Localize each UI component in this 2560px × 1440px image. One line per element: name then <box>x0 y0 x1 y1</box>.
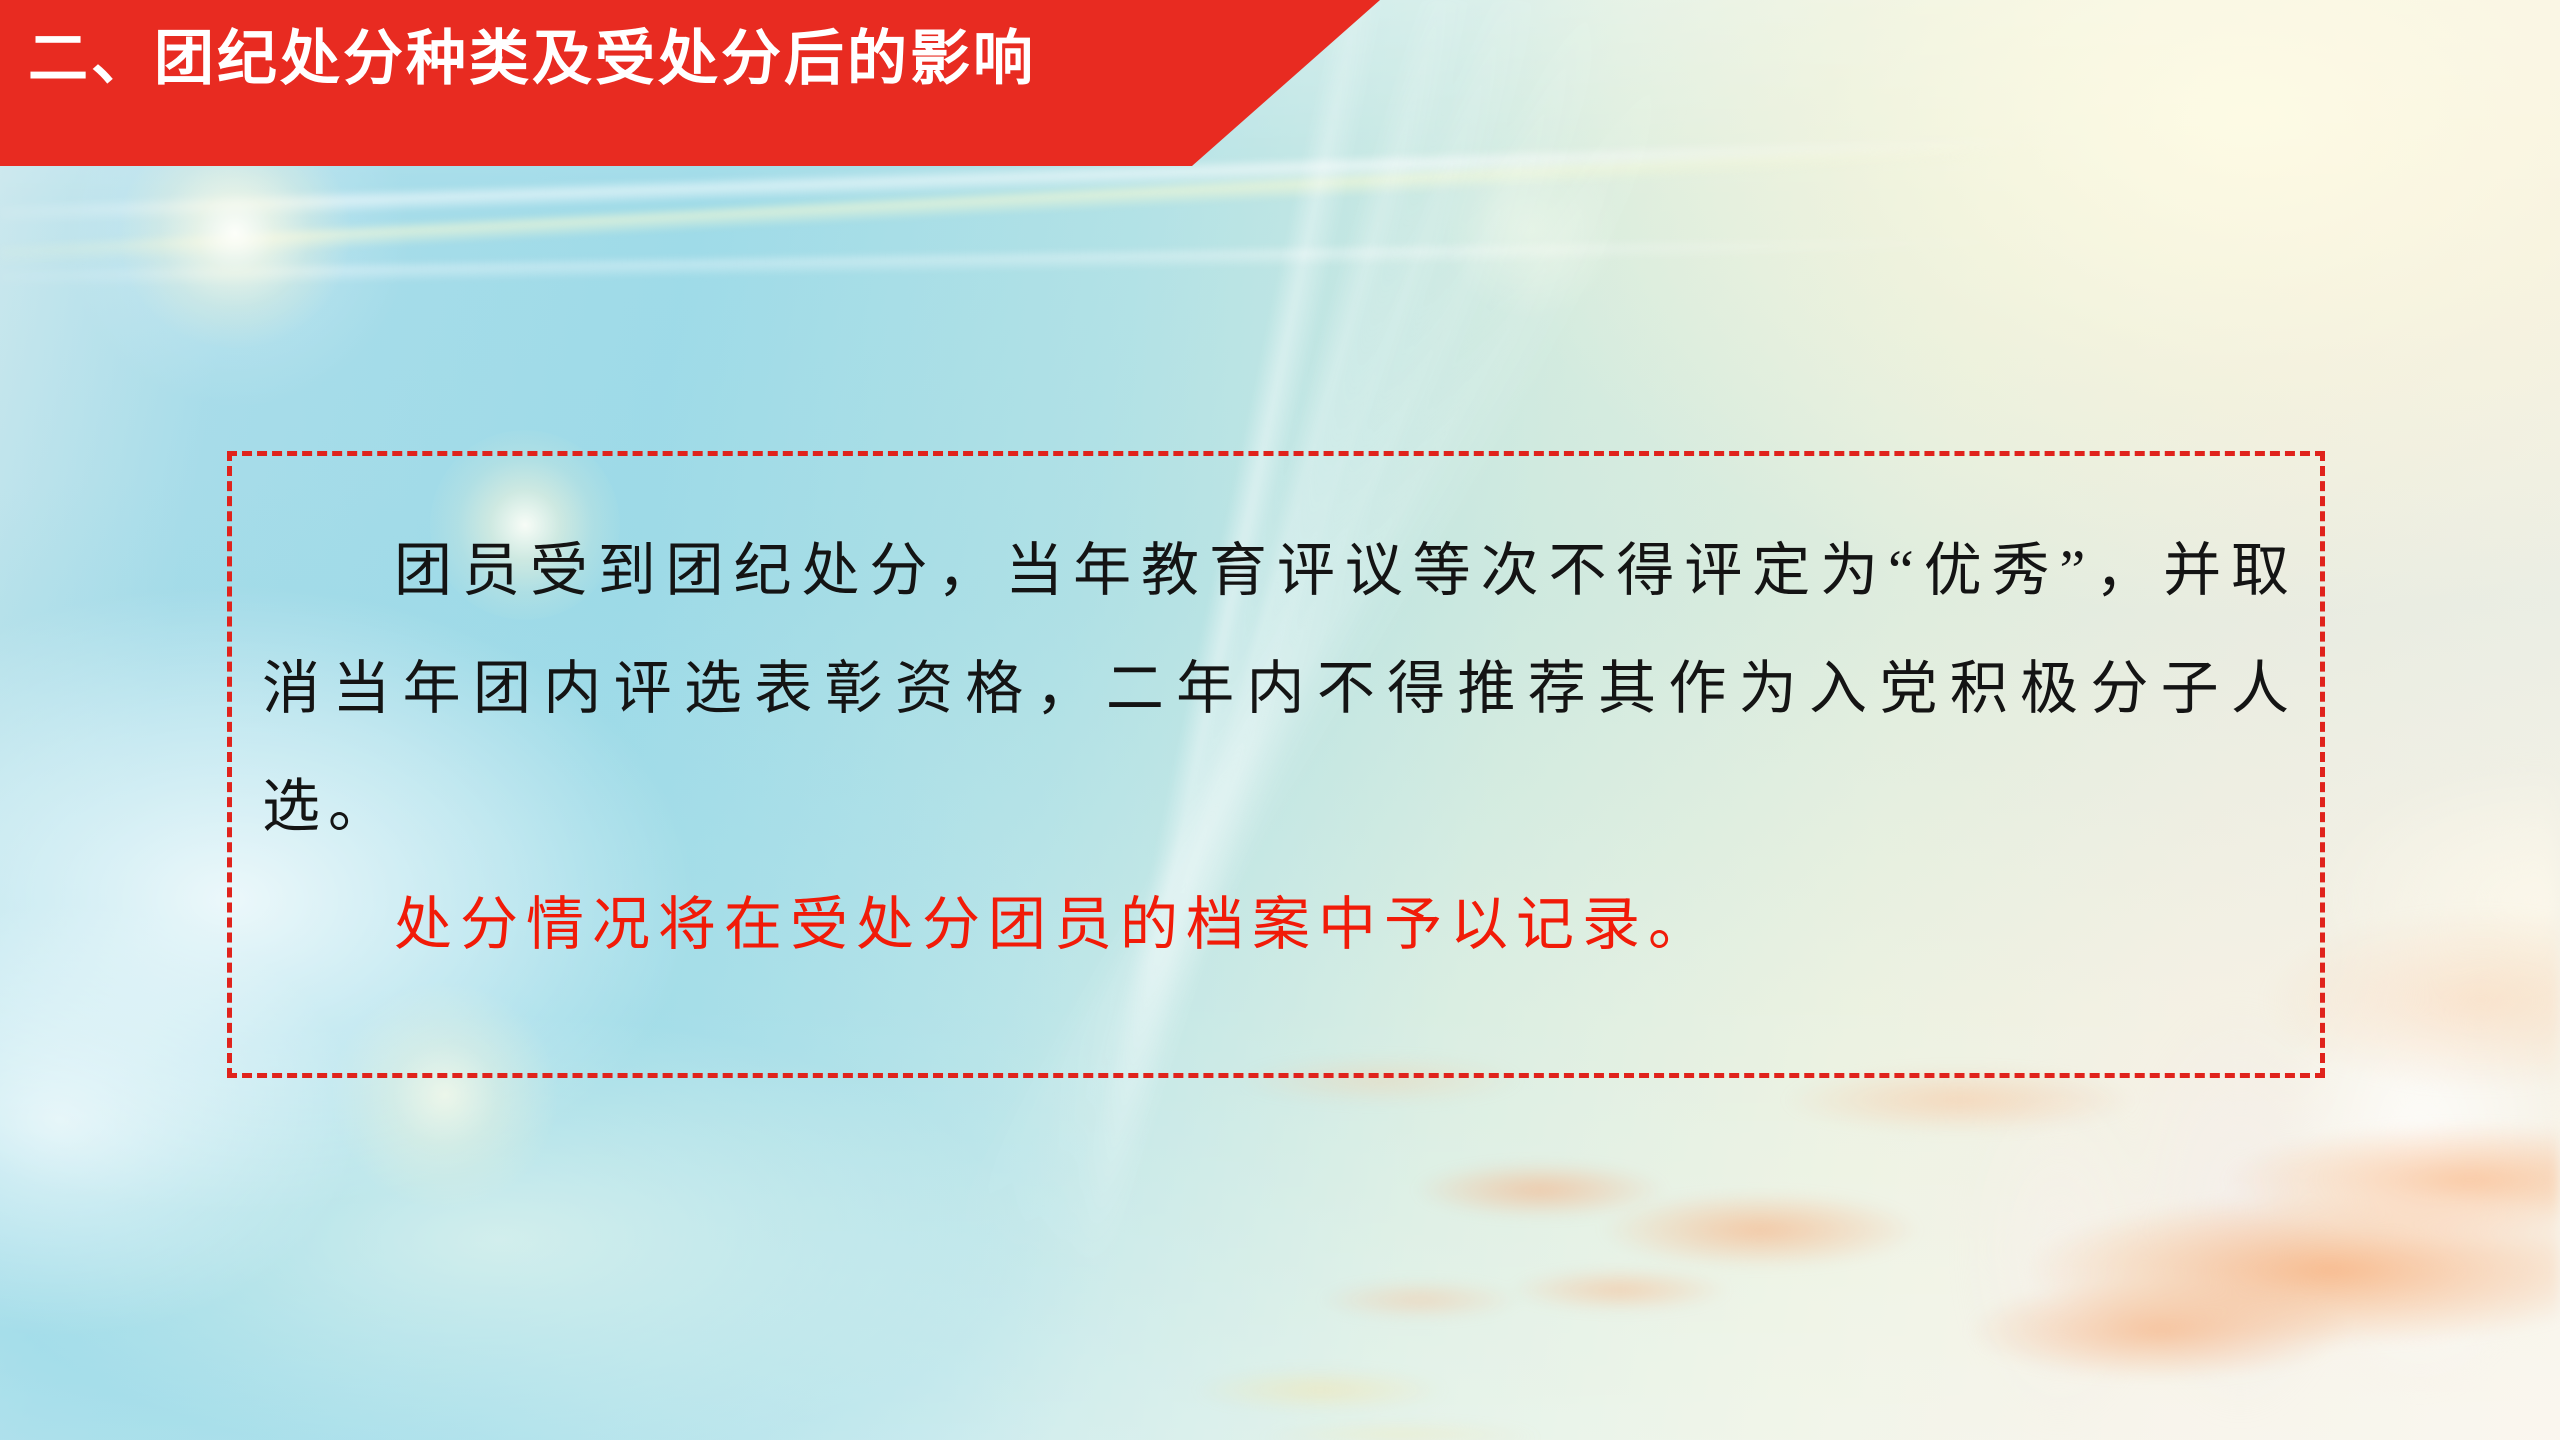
slide-canvas: 二、团纪处分种类及受处分后的影响 团员受到团纪处分，当年教育评议等次不得评定为“… <box>0 0 2560 1440</box>
content-body: 团员受到团纪处分，当年教育评议等次不得评定为“优秀”，并取消当年团内评选表彰资格… <box>262 512 2297 984</box>
page-title: 二、团纪处分种类及受处分后的影响 <box>28 28 1036 91</box>
paragraph-record-notice: 处分情况将在受处分团员的档案中予以记录。 <box>262 866 2297 984</box>
paragraph-discipline-effects: 团员受到团纪处分，当年教育评议等次不得评定为“优秀”，并取消当年团内评选表彰资格… <box>262 512 2297 866</box>
lens-flare-upper-center <box>1440 140 1620 320</box>
